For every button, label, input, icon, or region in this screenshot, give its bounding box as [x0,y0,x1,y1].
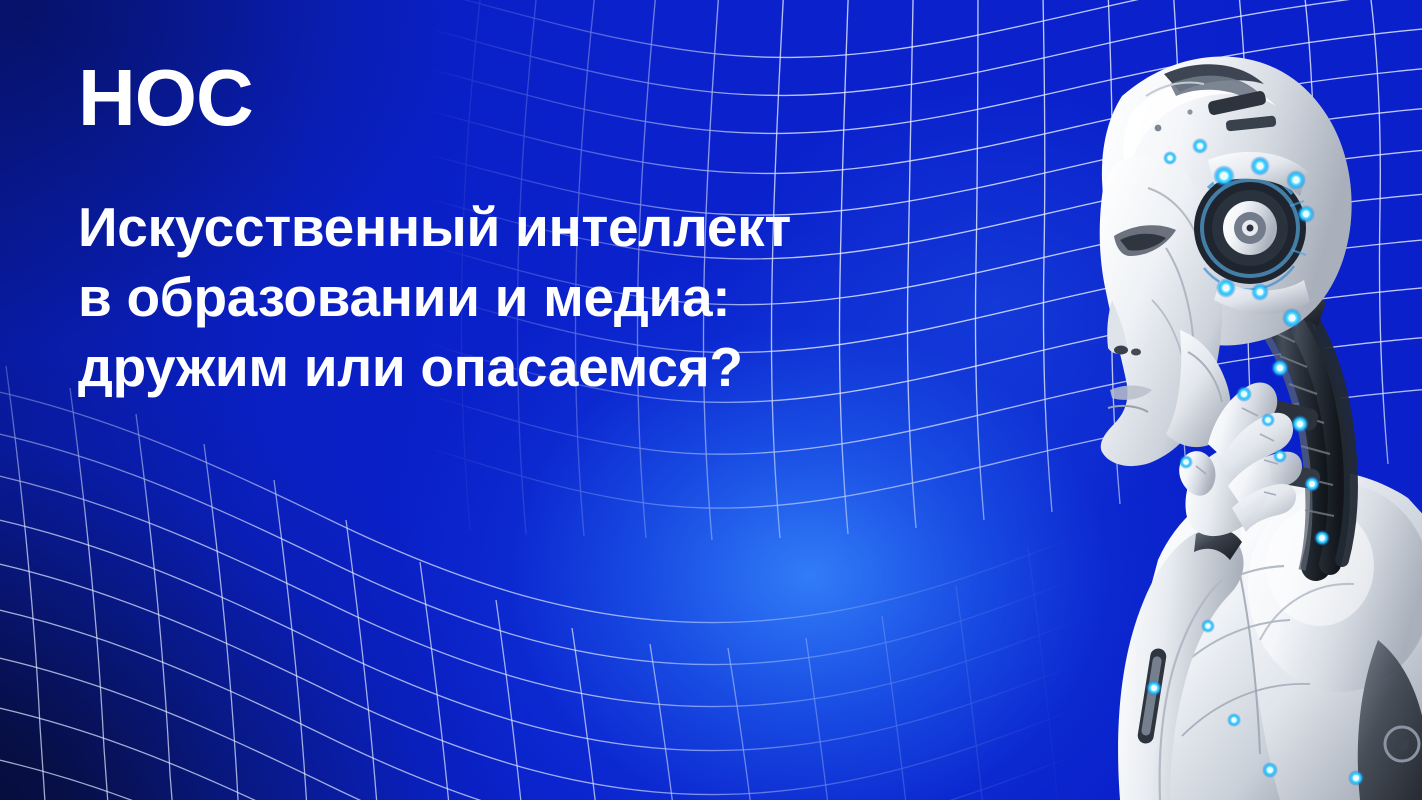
headline: Искусственный интеллект в образовании и … [78,192,791,402]
ai-education-banner: НОС Искусственный интеллект в образовани… [0,0,1422,800]
brand-logo[interactable]: НОС [78,58,253,138]
headline-line-3: дружим или опасаемся? [78,332,791,402]
headline-line-2: в образовании и медиа: [78,262,791,332]
text-content-block: НОС Искусственный интеллект в образовани… [78,0,978,800]
headline-line-1: Искусственный интеллект [78,192,791,262]
